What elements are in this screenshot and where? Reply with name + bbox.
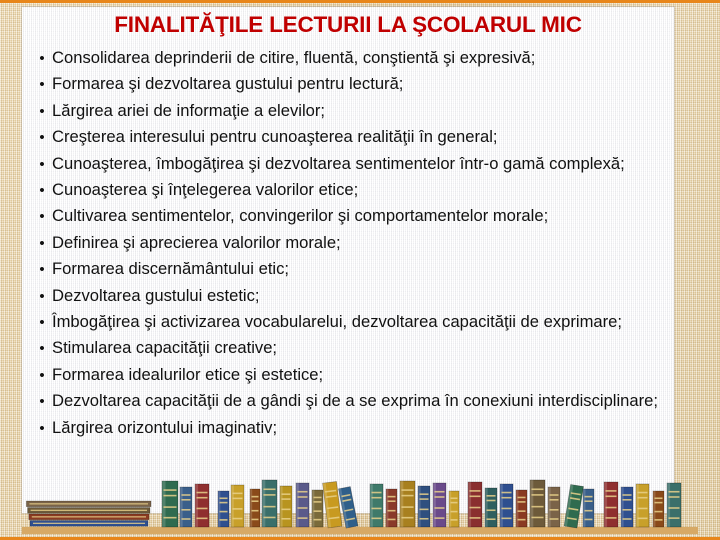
bullet-marker-icon: • xyxy=(32,284,52,309)
list-item: •Lărgirea orizontului imaginativ; xyxy=(32,415,670,441)
list-item: •Cunoaşterea, îmbogăţirea şi dezvoltarea… xyxy=(32,151,670,177)
list-item: •Dezvoltarea gustului estetic; xyxy=(32,283,670,309)
list-item-label: Lărgirea ariei de informaţie a elevilor; xyxy=(52,101,325,120)
list-item-label: Formarea discernământului etic; xyxy=(52,259,289,278)
list-item: •Stimularea capacităţii creative; xyxy=(32,335,670,361)
list-item-label: Definirea şi aprecierea valorilor morale… xyxy=(52,233,341,252)
bullet-marker-icon: • xyxy=(32,125,52,150)
bullet-list: •Consolidarea deprinderii de citire, flu… xyxy=(32,45,670,441)
list-item-label: Formarea şi dezvoltarea gustului pentru … xyxy=(52,74,403,93)
bullet-marker-icon: • xyxy=(32,231,52,256)
list-item-label: Dezvoltarea capacităţii de a gândi şi de… xyxy=(52,391,658,410)
bullet-marker-icon: • xyxy=(32,389,52,414)
bullet-marker-icon: • xyxy=(32,178,52,203)
list-item-label: Creşterea interesului pentru cunoaşterea… xyxy=(52,127,498,146)
list-item: •Dezvoltarea capacităţii de a gândi şi d… xyxy=(32,388,670,414)
bookshelf-illustration xyxy=(22,469,698,537)
list-item: •Lărgirea ariei de informaţie a elevilor… xyxy=(32,98,670,124)
list-item: •Formarea idealurilor etice şi estetice; xyxy=(32,362,670,388)
bullet-marker-icon: • xyxy=(32,416,52,441)
list-item-label: Cunoaşterea şi înţelegerea valorilor eti… xyxy=(52,180,358,199)
list-item-label: Consolidarea deprinderii de citire, flue… xyxy=(52,48,535,67)
bullet-marker-icon: • xyxy=(32,310,52,335)
list-item-label: Dezvoltarea gustului estetic; xyxy=(52,286,260,305)
list-item: •Creşterea interesului pentru cunoaştere… xyxy=(32,124,670,150)
bullet-marker-icon: • xyxy=(32,46,52,71)
list-item: •Definirea şi aprecierea valorilor moral… xyxy=(32,230,670,256)
slide-canvas: FINALITĂŢILE LECTURII LA ŞCOLARUL MIC •C… xyxy=(0,0,720,540)
bullet-marker-icon: • xyxy=(32,72,52,97)
top-accent-rule xyxy=(0,0,720,3)
bullet-marker-icon: • xyxy=(32,363,52,388)
list-item-label: Lărgirea orizontului imaginativ; xyxy=(52,418,277,437)
list-item-label: Cultivarea sentimentelor, convingerilor … xyxy=(52,206,548,225)
list-item-label: Cunoaşterea, îmbogăţirea şi dezvoltarea … xyxy=(52,154,625,173)
list-item: •Îmbogăţirea şi activizarea vocabularelu… xyxy=(32,309,670,335)
content-panel: FINALITĂŢILE LECTURII LA ŞCOLARUL MIC •C… xyxy=(22,7,674,513)
list-item: •Cunoaşterea şi înţelegerea valorilor et… xyxy=(32,177,670,203)
list-item-label: Îmbogăţirea şi activizarea vocabularelui… xyxy=(52,312,622,331)
list-item: •Formarea şi dezvoltarea gustului pentru… xyxy=(32,71,670,97)
bullet-marker-icon: • xyxy=(32,257,52,282)
bullet-marker-icon: • xyxy=(32,204,52,229)
list-item: •Consolidarea deprinderii de citire, flu… xyxy=(32,45,670,71)
page-title: FINALITĂŢILE LECTURII LA ŞCOLARUL MIC xyxy=(22,11,674,39)
bullet-marker-icon: • xyxy=(32,336,52,361)
list-item: •Formarea discernământului etic; xyxy=(32,256,670,282)
list-item-label: Formarea idealurilor etice şi estetice; xyxy=(52,365,323,384)
list-item-label: Stimularea capacităţii creative; xyxy=(52,338,277,357)
bullet-marker-icon: • xyxy=(32,152,52,177)
bullet-marker-icon: • xyxy=(32,99,52,124)
list-item: •Cultivarea sentimentelor, convingerilor… xyxy=(32,203,670,229)
